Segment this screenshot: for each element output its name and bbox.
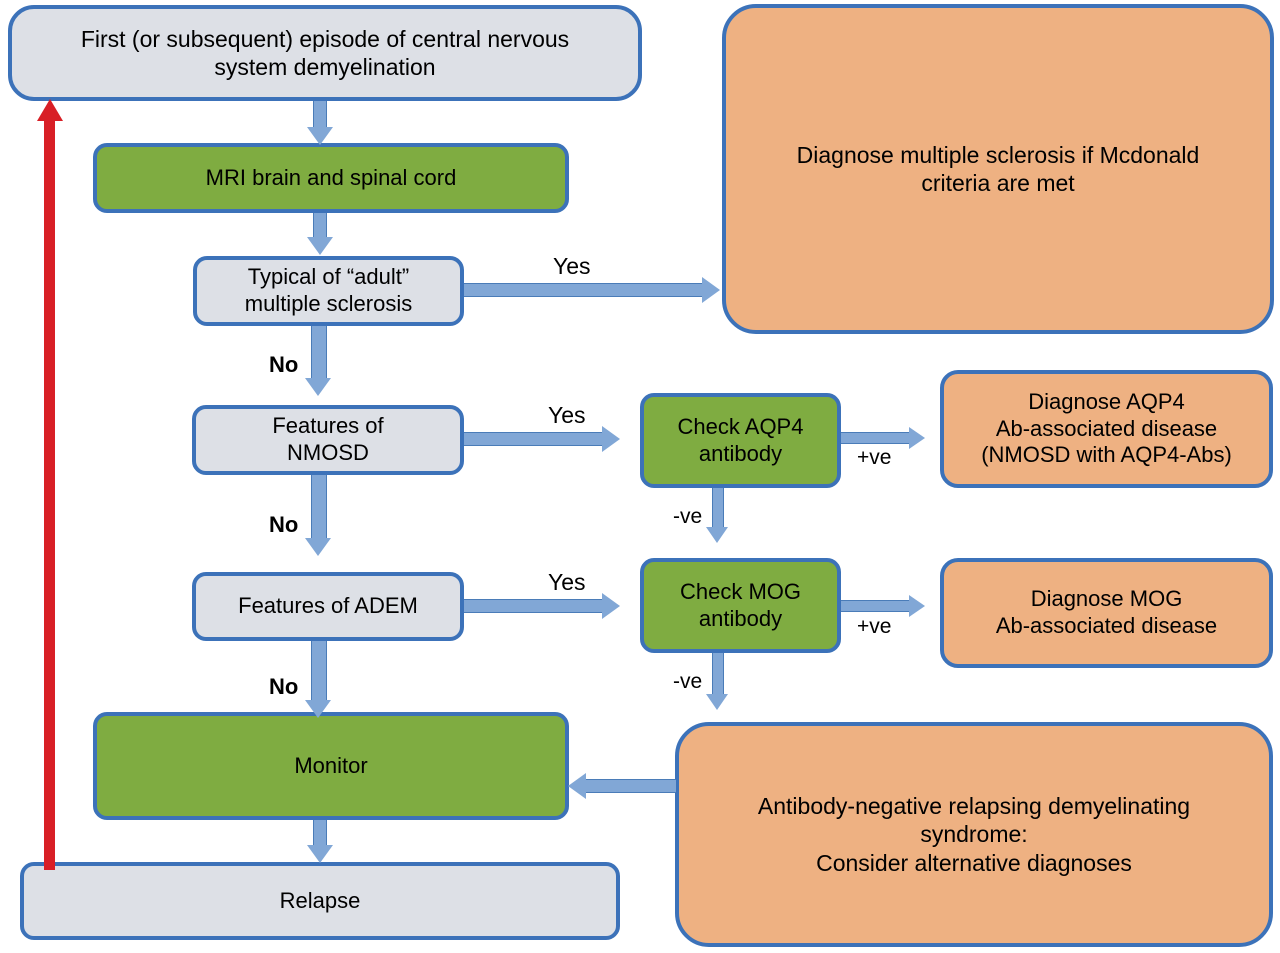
- edge-label-pos-aqp4: +ve: [857, 446, 891, 470]
- node-diagnose-mog-label: Diagnose MOG Ab-associated disease: [954, 586, 1259, 640]
- node-episode[interactable]: First (or subsequent) episode of central…: [8, 5, 642, 101]
- edge-label-yes-nmosd: Yes: [548, 402, 586, 429]
- edge-label-yes-adem: Yes: [548, 569, 586, 596]
- node-episode-label: First (or subsequent) episode of central…: [22, 25, 628, 81]
- node-diagnose-ms[interactable]: Diagnose multiple sclerosis if Mcdonald …: [722, 4, 1274, 334]
- node-check-mog-label: Check MOG antibody: [654, 579, 827, 633]
- node-diagnose-mog[interactable]: Diagnose MOG Ab-associated disease: [940, 558, 1273, 668]
- node-typical-ms[interactable]: Typical of “adult” multiple sclerosis: [193, 256, 464, 326]
- node-nmosd-label: Features of NMOSD: [206, 413, 450, 467]
- edge-label-no-adem: No: [269, 674, 298, 700]
- flowchart-canvas: First (or subsequent) episode of central…: [0, 0, 1280, 953]
- node-relapse[interactable]: Relapse: [20, 862, 620, 940]
- node-relapse-label: Relapse: [34, 888, 606, 915]
- node-diagnose-aqp4-label: Diagnose AQP4 Ab-associated disease (NMO…: [954, 389, 1259, 469]
- node-nmosd[interactable]: Features of NMOSD: [192, 405, 464, 475]
- node-check-aqp4-label: Check AQP4 antibody: [654, 414, 827, 468]
- node-check-aqp4[interactable]: Check AQP4 antibody: [640, 393, 841, 488]
- node-adem-label: Features of ADEM: [206, 593, 450, 620]
- node-typical-ms-label: Typical of “adult” multiple sclerosis: [207, 264, 450, 318]
- edge-label-neg-mog: -ve: [673, 670, 702, 694]
- node-mri[interactable]: MRI brain and spinal cord: [93, 143, 569, 213]
- node-monitor-label: Monitor: [107, 753, 555, 780]
- node-adem[interactable]: Features of ADEM: [192, 572, 464, 641]
- edge-label-yes-ms: Yes: [553, 253, 591, 280]
- node-diagnose-ms-label: Diagnose multiple sclerosis if Mcdonald …: [736, 141, 1260, 197]
- node-diagnose-aqp4[interactable]: Diagnose AQP4 Ab-associated disease (NMO…: [940, 370, 1273, 488]
- node-ab-negative-label: Antibody-negative relapsing demyelinatin…: [689, 792, 1259, 876]
- node-mri-label: MRI brain and spinal cord: [107, 165, 555, 192]
- edge-label-neg-aqp4: -ve: [673, 505, 702, 529]
- node-monitor[interactable]: Monitor: [93, 712, 569, 820]
- edge-label-no-nmosd: No: [269, 512, 298, 538]
- edge-label-no-ms: No: [269, 352, 298, 378]
- node-ab-negative[interactable]: Antibody-negative relapsing demyelinatin…: [675, 722, 1273, 947]
- node-check-mog[interactable]: Check MOG antibody: [640, 558, 841, 653]
- edge-label-pos-mog: +ve: [857, 615, 891, 639]
